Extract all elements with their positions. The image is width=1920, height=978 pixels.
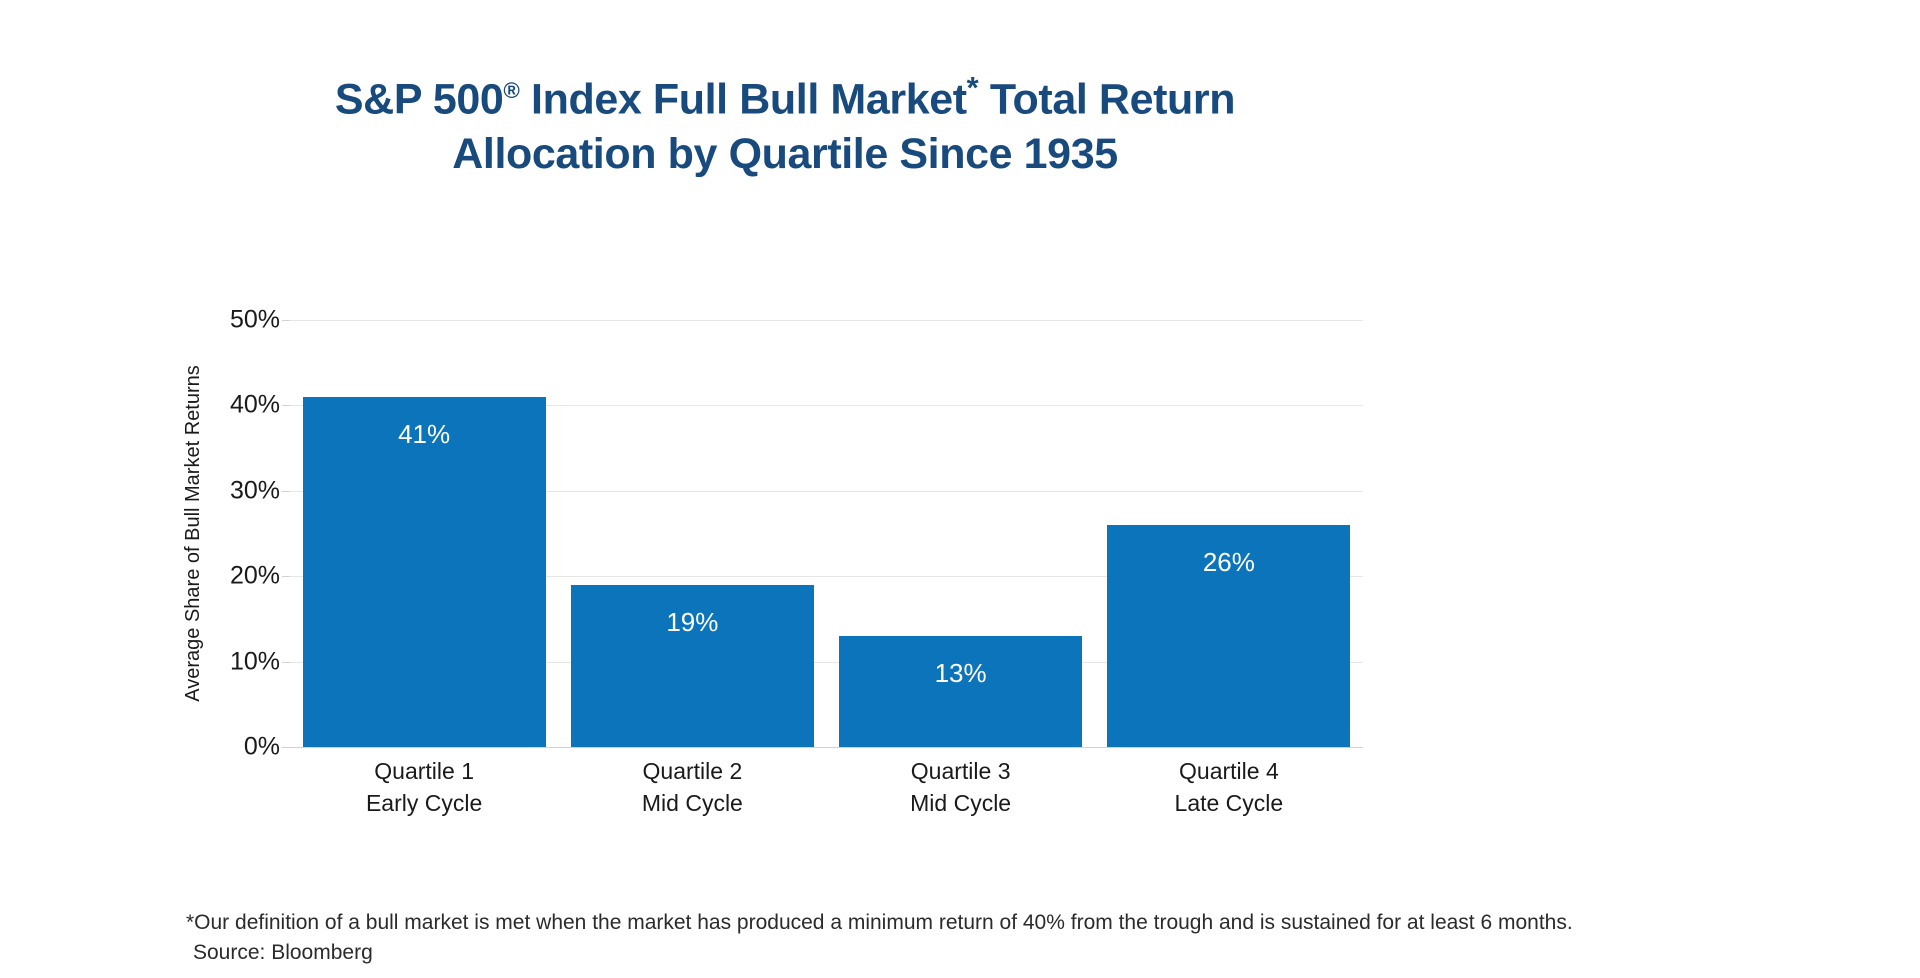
x-category-name: Quartile 3 [827, 755, 1095, 787]
bar-slot: 26% [1107, 320, 1350, 747]
footnote-source: Source: Bloomberg [186, 938, 1826, 968]
y-tick-label: 10% [230, 647, 280, 676]
title-line-1: S&P 500® Index Full Bull Market* Total R… [0, 68, 1570, 127]
y-tick-label: 20% [230, 562, 280, 591]
x-category-name: Quartile 1 [290, 755, 558, 787]
footnote-asterisk-icon: * [967, 70, 979, 105]
bar-slot: 13% [839, 320, 1082, 747]
gridline [290, 747, 1363, 748]
bar-slot: 41% [303, 320, 546, 747]
y-tick-label: 50% [230, 306, 280, 335]
y-tick-label: 40% [230, 391, 280, 420]
y-axis-ticks: 0%10%20%30%40%50% [196, 320, 280, 747]
x-category-name: Quartile 4 [1095, 755, 1363, 787]
title-line-2: Allocation by Quartile Since 1935 [0, 127, 1570, 182]
x-category-label: Quartile 2Mid Cycle [558, 755, 826, 819]
x-category-sublabel: Mid Cycle [827, 787, 1095, 819]
bar[interactable]: 13% [839, 636, 1082, 747]
x-category-name: Quartile 2 [558, 755, 826, 787]
title-post: Total Return [978, 75, 1235, 123]
x-category-sublabel: Early Cycle [290, 787, 558, 819]
registered-trademark-icon: ® [503, 78, 519, 103]
x-category-sublabel: Mid Cycle [558, 787, 826, 819]
bar-value-label: 19% [571, 607, 814, 638]
bar[interactable]: 26% [1107, 525, 1350, 747]
bar-value-label: 41% [303, 419, 546, 450]
y-tick-label: 0% [244, 733, 280, 762]
title-brand: S&P 500 [335, 75, 504, 123]
footnote-definition: *Our definition of a bull market is met … [186, 911, 1573, 934]
page-title: S&P 500® Index Full Bull Market* Total R… [0, 68, 1570, 182]
bar[interactable]: 41% [303, 397, 546, 747]
bar-slot: 19% [571, 320, 814, 747]
bar-value-label: 26% [1107, 547, 1350, 578]
x-category-label: Quartile 3Mid Cycle [827, 755, 1095, 819]
x-category-sublabel: Late Cycle [1095, 787, 1363, 819]
x-category-label: Quartile 1Early Cycle [290, 755, 558, 819]
y-tick-label: 30% [230, 476, 280, 505]
footnote: *Our definition of a bull market is met … [186, 908, 1826, 968]
x-axis-categories: Quartile 1Early CycleQuartile 2Mid Cycle… [290, 755, 1363, 825]
bar[interactable]: 19% [571, 585, 814, 747]
x-category-label: Quartile 4Late Cycle [1095, 755, 1363, 819]
bar-value-label: 13% [839, 658, 1082, 689]
bar-series: 41%19%13%26% [290, 320, 1363, 747]
title-mid: Index Full Bull Market [520, 75, 967, 123]
